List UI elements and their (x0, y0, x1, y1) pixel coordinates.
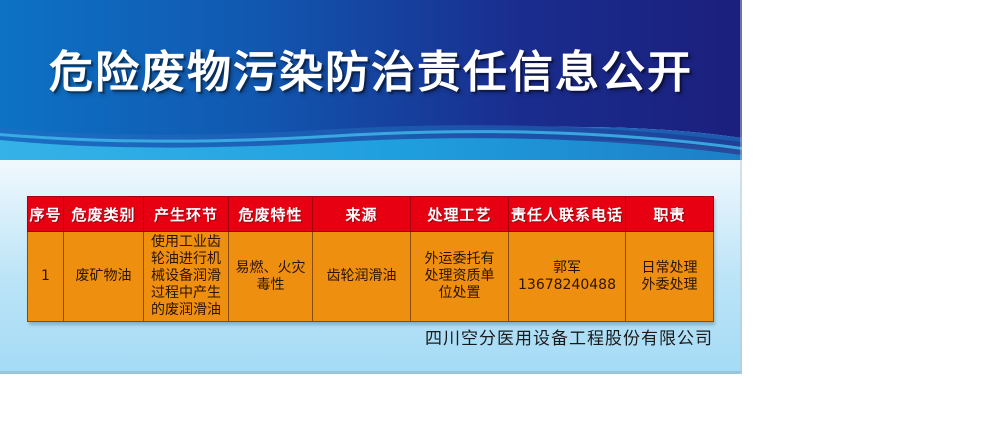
column-header-category: 危废类别 (64, 197, 144, 232)
column-header-source: 来源 (313, 197, 411, 232)
cell-stage-line: 使用工业齿 (148, 234, 224, 251)
table-header-row: 序号 危废类别 产生环节 危废特性 来源 处理工艺 责任人联系电话 职责 (28, 197, 714, 232)
poster-bottom-edge (0, 371, 742, 374)
cell-duty-line: 外委处理 (630, 277, 709, 294)
cell-category: 废矿物油 (64, 232, 144, 322)
cell-hazard: 易燃、火灾 毒性 (229, 232, 313, 322)
cell-process-line: 处理资质单 (415, 268, 504, 285)
contact-person-phone: 13678240488 (513, 277, 621, 294)
cell-stage-line: 轮油进行机 (148, 251, 224, 268)
hazardous-waste-table-wrapper: 序号 危废类别 产生环节 危废特性 来源 处理工艺 责任人联系电话 职责 1 废… (27, 196, 713, 322)
contact-person-name: 郭军 (513, 260, 621, 277)
cell-hazard-line: 毒性 (233, 277, 308, 294)
cell-contact: 郭军 13678240488 (509, 232, 626, 322)
column-header-contact: 责任人联系电话 (509, 197, 626, 232)
company-name: 四川空分医用设备工程股份有限公司 (27, 328, 715, 350)
cell-source: 齿轮润滑油 (313, 232, 411, 322)
cell-stage-line: 械设备润滑 (148, 268, 224, 285)
poster-title: 危险废物污染防治责任信息公开 (0, 44, 742, 102)
column-header-process: 处理工艺 (411, 197, 509, 232)
cell-duty-line: 日常处理 (630, 260, 709, 277)
hazardous-waste-table: 序号 危废类别 产生环节 危废特性 来源 处理工艺 责任人联系电话 职责 1 废… (27, 196, 714, 322)
cell-process: 外运委托有 处理资质单 位处置 (411, 232, 509, 322)
cell-stage-line: 的废润滑油 (148, 302, 224, 319)
cell-process-line: 位处置 (415, 285, 504, 302)
poster-canvas: 危险废物污染防治责任信息公开 序号 危废类别 产生环节 危废特性 来源 处理工艺… (0, 0, 742, 374)
cell-process-line: 外运委托有 (415, 251, 504, 268)
table-row: 1 废矿物油 使用工业齿 轮油进行机 械设备润滑 过程中产生 的废润滑油 易燃、… (28, 232, 714, 322)
column-header-index: 序号 (28, 197, 64, 232)
cell-stage-line: 过程中产生 (148, 285, 224, 302)
column-header-stage: 产生环节 (144, 197, 229, 232)
column-header-hazard: 危废特性 (229, 197, 313, 232)
poster-right-edge (740, 0, 742, 374)
column-header-duty: 职责 (626, 197, 714, 232)
cell-index: 1 (28, 232, 64, 322)
cell-duty: 日常处理 外委处理 (626, 232, 714, 322)
cell-stage: 使用工业齿 轮油进行机 械设备润滑 过程中产生 的废润滑油 (144, 232, 229, 322)
poster-banner: 危险废物污染防治责任信息公开 (0, 0, 742, 160)
cell-hazard-line: 易燃、火灾 (233, 260, 308, 277)
